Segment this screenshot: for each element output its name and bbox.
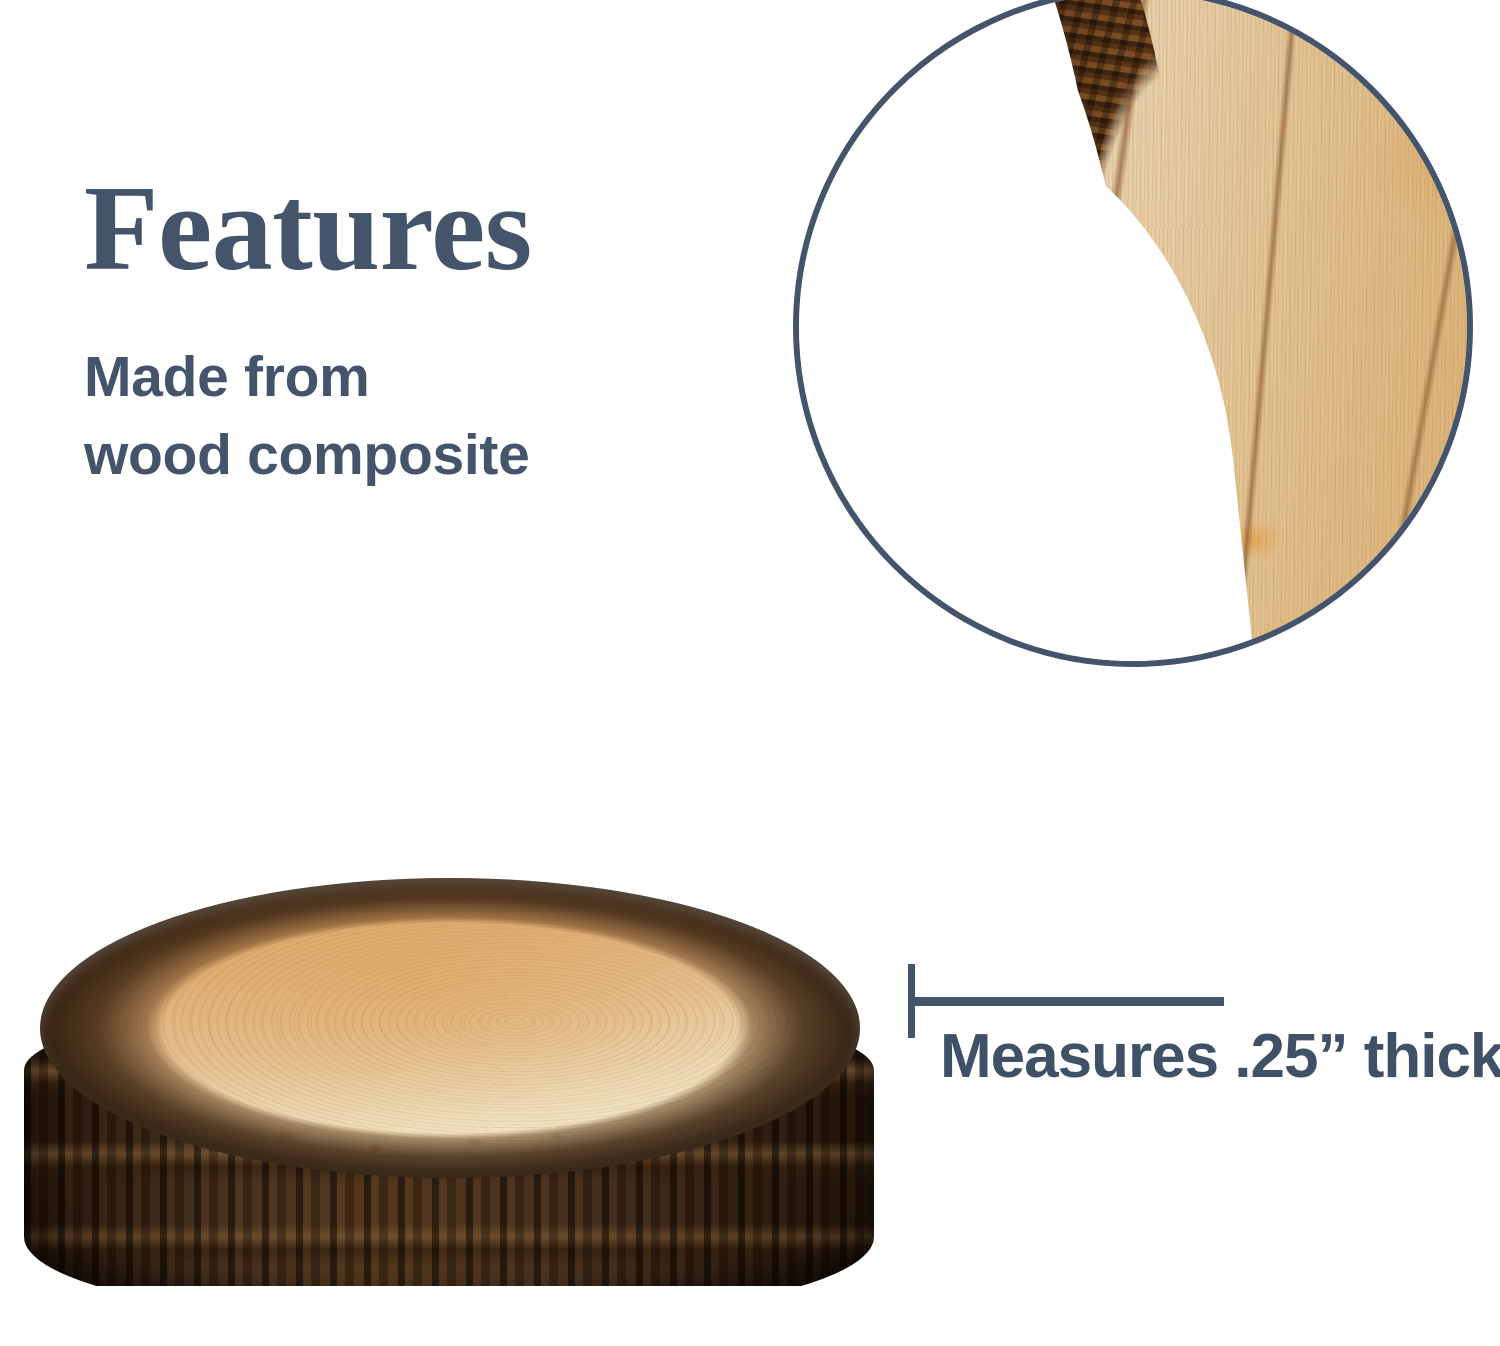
dimension-rule-icon (912, 997, 1224, 1006)
feature-subtitle-line-2: wood composite (84, 416, 724, 494)
page-title: Features (84, 168, 724, 290)
feature-subtitle: Made from wood composite (84, 290, 724, 494)
measurement-caption: Measures .25” thick (940, 1026, 1500, 1088)
product-feature-infographic: Features Made from wood composite Measur… (0, 0, 1500, 1346)
coaster-top-wood-face (40, 878, 860, 1178)
wood-edge-closeup-circle (793, 0, 1473, 667)
product-photo-coaster-stack (4, 872, 892, 1346)
feature-subtitle-line-1: Made from (84, 338, 724, 416)
headline-block: Features Made from wood composite (84, 168, 724, 494)
